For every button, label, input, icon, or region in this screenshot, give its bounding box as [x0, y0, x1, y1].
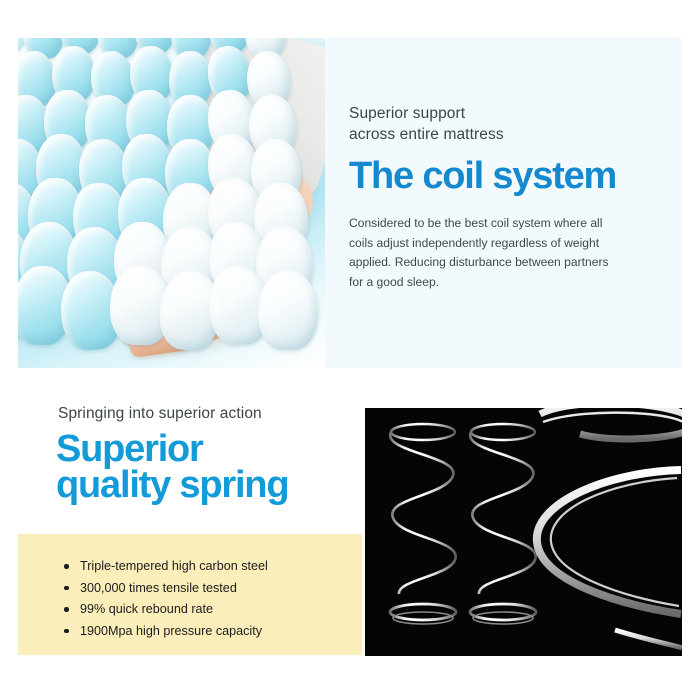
coil-system-eyebrow-line1: Superior support — [349, 105, 465, 122]
infographic-canvas: Superior support across entire mattress … — [0, 0, 700, 700]
coil-system-eyebrow: Superior support across entire mattress — [349, 104, 661, 145]
coil-system-headline: The coil system — [349, 157, 661, 196]
quality-spring-headline: Superior quality spring — [56, 431, 288, 504]
spring-photo-illustration — [365, 408, 682, 656]
spring-spec-item: 99% quick rebound rate — [64, 599, 362, 621]
coil-photo-coil-array — [18, 38, 325, 368]
coil-system-text-block: Superior support across entire mattress … — [349, 104, 661, 292]
coil-system-body-copy: Considered to be the best coil system wh… — [349, 214, 617, 292]
coil-system-eyebrow-line2: across entire mattress — [349, 126, 504, 143]
steel-spring-photo — [365, 408, 682, 656]
coil-system-info-panel: Superior support across entire mattress … — [325, 38, 682, 368]
spring-spec-item: 300,000 times tensile tested — [64, 578, 362, 600]
quality-spring-eyebrow: Springing into superior action — [58, 405, 262, 423]
spring-spec-item: Triple-tempered high carbon steel — [64, 556, 362, 578]
coil-photo-pocket-coil — [258, 271, 318, 350]
spring-spec-list: Triple-tempered high carbon steel300,000… — [18, 534, 362, 643]
quality-spring-text-block: Springing into superior action Superior … — [18, 398, 362, 656]
pocket-coil-photo — [18, 38, 325, 368]
spring-spec-item: 1900Mpa high pressure capacity — [64, 621, 362, 643]
quality-spring-headline-line2: quality spring — [56, 464, 288, 506]
spring-spec-box: Triple-tempered high carbon steel300,000… — [18, 534, 362, 655]
